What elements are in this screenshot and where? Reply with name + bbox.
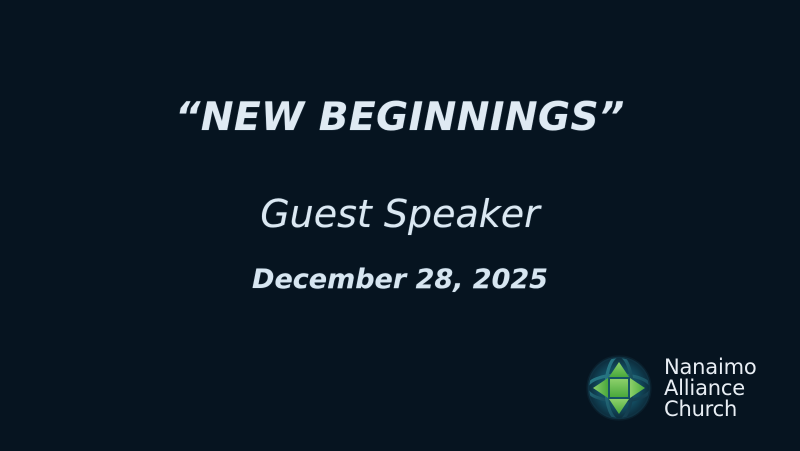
slide-title: “NEW BEGINNINGS” — [0, 97, 800, 140]
wordmark-line-church: Church — [664, 399, 757, 420]
wordmark-line-nanaimo: Nanaimo — [664, 357, 757, 378]
wordmark-line-alliance: Alliance — [664, 378, 757, 399]
slide-date: December 28, 2025 — [0, 265, 800, 295]
church-logo: Nanaimo Alliance Church — [584, 350, 784, 426]
globe-emblem-icon — [584, 353, 654, 423]
slide-subtitle-speaker: Guest Speaker — [0, 194, 800, 236]
presentation-slide: “NEW BEGINNINGS” Guest Speaker December … — [0, 0, 800, 451]
logo-wordmark: Nanaimo Alliance Church — [664, 357, 757, 420]
